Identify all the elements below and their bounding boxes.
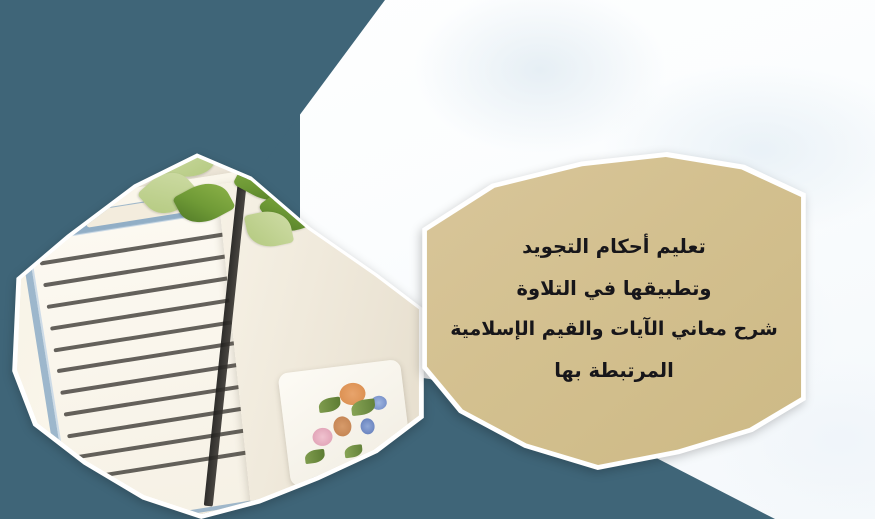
leaf-sprig	[343, 444, 362, 458]
headline-card: تعليم أحكام التجويد وتطبيقها في التلاوة …	[410, 152, 818, 470]
flower-peach	[332, 416, 352, 438]
slide-canvas: تعليم أحكام التجويد وتطبيقها في التلاوة …	[0, 0, 875, 519]
flower-pink	[311, 427, 333, 447]
headline-line-4: المرتبطة بها	[554, 359, 674, 383]
headline-line-2: وتطبيقها في التلاوة	[516, 277, 711, 301]
quran-photo	[8, 130, 428, 519]
headline-line-1: تعليم أحكام التجويد	[522, 235, 706, 259]
headline-line-3: شرح معاني الآيات والقيم الإسلامية	[450, 318, 778, 341]
plant-stem	[137, 135, 332, 163]
plant-leaf	[303, 157, 368, 214]
leaf-sprig	[317, 396, 341, 413]
flower-blue	[359, 417, 375, 435]
leaf-sprig	[304, 449, 325, 464]
